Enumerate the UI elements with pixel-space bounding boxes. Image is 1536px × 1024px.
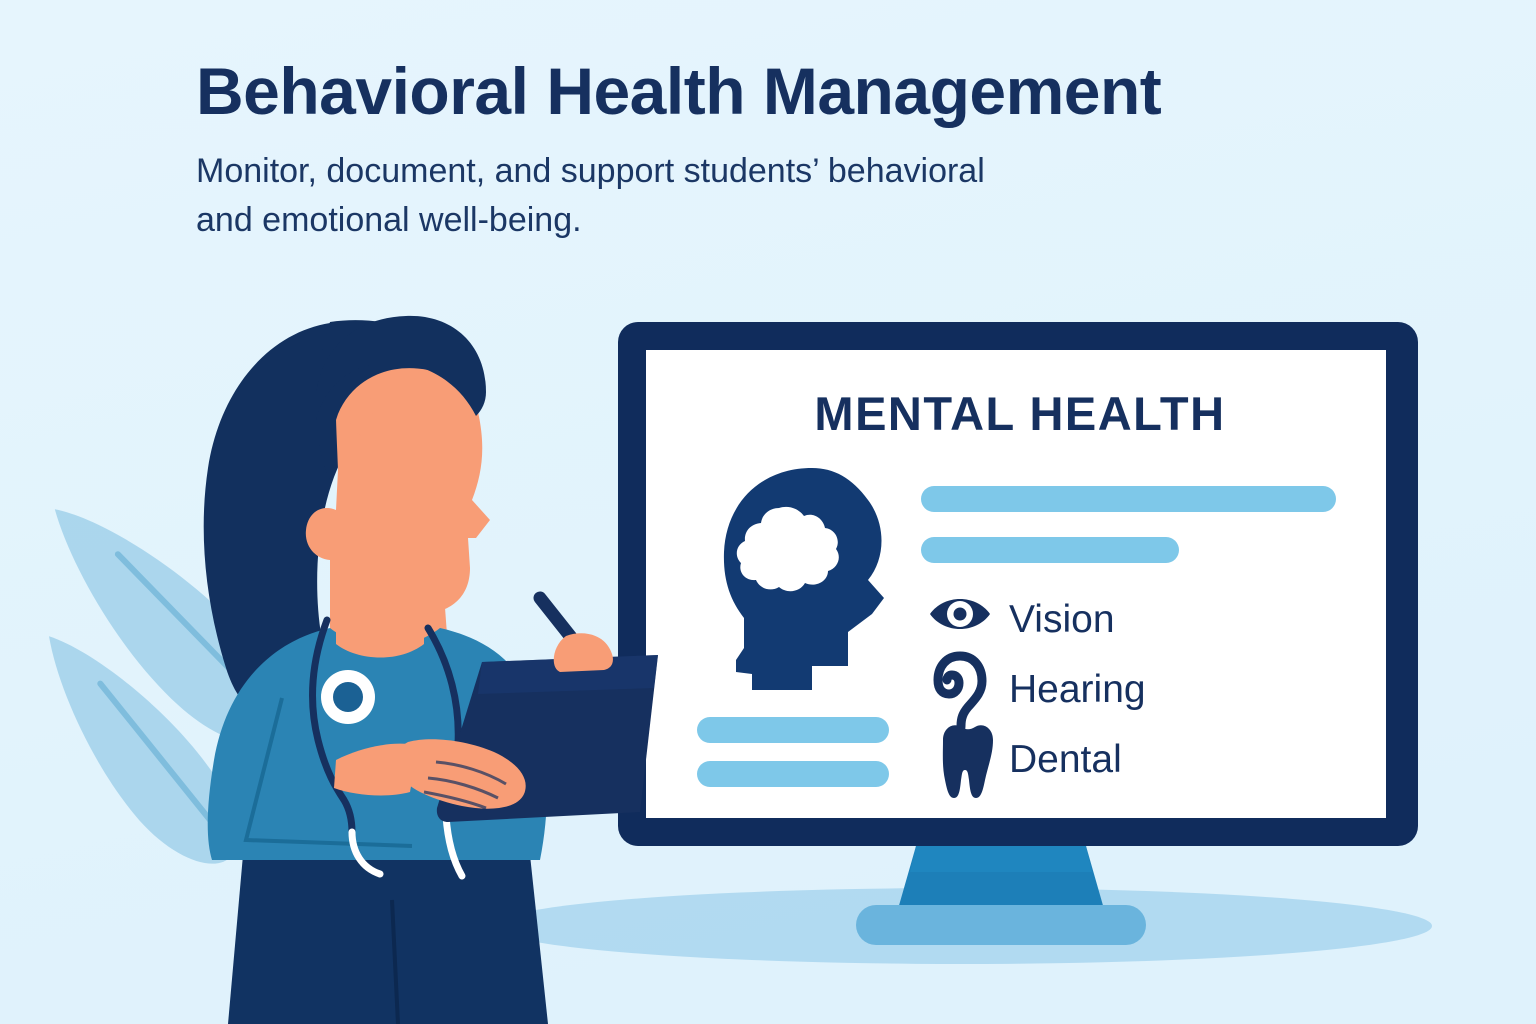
service-row-dental[interactable]: Dental bbox=[925, 725, 1146, 793]
service-label-hearing: Hearing bbox=[1009, 670, 1146, 709]
placeholder-bar-long bbox=[921, 486, 1336, 512]
monitor-base bbox=[856, 905, 1146, 945]
placeholder-bar-bottom-1 bbox=[697, 717, 889, 743]
placeholder-bar-bottom-2 bbox=[697, 761, 889, 787]
service-list: Vision Hearing Dental bbox=[925, 585, 1146, 795]
screen-title: MENTAL HEALTH bbox=[650, 386, 1390, 441]
page-subtitle-line-1: Monitor, document, and support students’… bbox=[196, 147, 1316, 195]
page-title: Behavioral Health Management bbox=[196, 56, 1426, 127]
skirt bbox=[228, 855, 548, 1024]
page-subtitle-line-2: and emotional well-being. bbox=[196, 196, 1316, 244]
service-label-vision: Vision bbox=[1009, 600, 1115, 639]
service-row-hearing[interactable]: Hearing bbox=[925, 655, 1146, 723]
service-label-dental: Dental bbox=[1009, 740, 1122, 779]
placeholder-bar-short bbox=[921, 537, 1179, 563]
service-row-vision[interactable]: Vision bbox=[925, 585, 1146, 653]
page-subtitle: Monitor, document, and support students’… bbox=[196, 147, 1316, 244]
illustration-canvas: Behavioral Health Management Monitor, do… bbox=[0, 0, 1536, 1024]
monitor-stand-highlight bbox=[910, 846, 1092, 872]
header-block: Behavioral Health Management Monitor, do… bbox=[196, 56, 1426, 244]
